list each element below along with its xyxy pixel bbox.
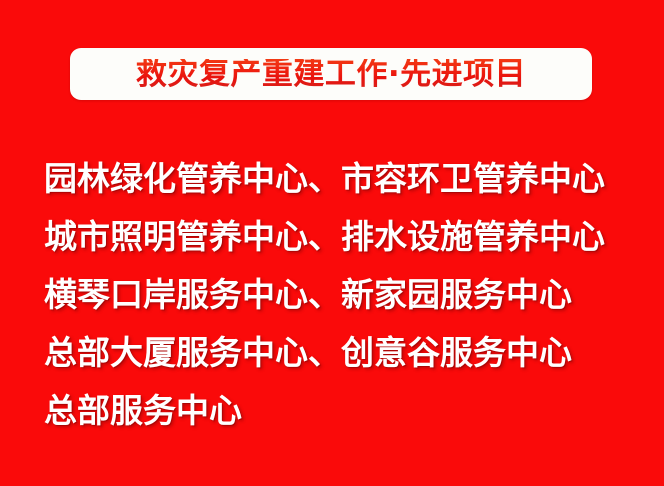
honoree-list: 园林绿化管养中心、市容环卫管养中心 城市照明管养中心、排水设施管养中心 横琴口岸… bbox=[44, 150, 644, 440]
poster-title: 救灾复产重建工作·先进项目 bbox=[136, 59, 526, 90]
list-item: 总部服务中心 bbox=[44, 382, 644, 440]
poster-root: 救灾复产重建工作·先进项目 园林绿化管养中心、市容环卫管养中心 城市照明管养中心… bbox=[0, 0, 664, 486]
list-item: 城市照明管养中心、排水设施管养中心 bbox=[44, 208, 644, 266]
title-banner: 救灾复产重建工作·先进项目 bbox=[70, 48, 592, 100]
list-item: 园林绿化管养中心、市容环卫管养中心 bbox=[44, 150, 644, 208]
list-item: 总部大厦服务中心、创意谷服务中心 bbox=[44, 324, 644, 382]
list-item: 横琴口岸服务中心、新家园服务中心 bbox=[44, 266, 644, 324]
